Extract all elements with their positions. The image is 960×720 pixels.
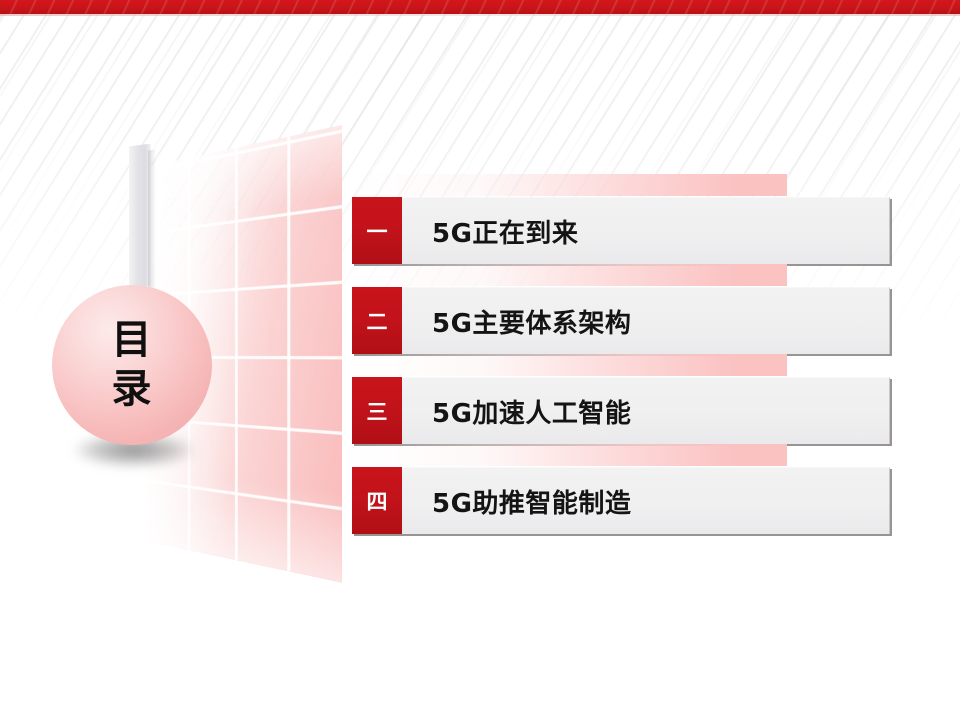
panel-edge-plate-shadow (148, 150, 156, 289)
agenda-item-1-bar[interactable]: 一 5G正在到来 (352, 197, 890, 264)
agenda-item-1-plate[interactable]: 5G正在到来 (402, 197, 890, 264)
agenda-item-2-label: 5G主要体系架构 (432, 303, 631, 340)
agenda-title-char-2: 录 (112, 365, 153, 414)
agenda-sphere-label: 目 录 (52, 285, 212, 445)
agenda-item-1-numeral: 一 (352, 197, 402, 264)
agenda-list: 一 5G正在到来 二 5G主要体系架构 三 5G加速人工智能 (352, 172, 912, 552)
agenda-item-3-numeral: 三 (352, 377, 402, 444)
agenda-title-char-1: 目 (112, 316, 153, 365)
agenda-item-3-bar[interactable]: 三 5G加速人工智能 (352, 377, 890, 444)
slide-canvas: 目 录 一 5G正在到来 二 5G主要体系架构 (0, 0, 960, 720)
agenda-item-2[interactable]: 二 5G主要体系架构 (352, 262, 892, 352)
agenda-item-2-plate[interactable]: 5G主要体系架构 (402, 287, 890, 354)
top-band-stripe-texture (0, 0, 960, 14)
agenda-item-2-numeral: 二 (352, 287, 402, 354)
agenda-item-4-backdrop (352, 444, 787, 466)
top-band-hairline (0, 14, 960, 16)
agenda-item-1[interactable]: 一 5G正在到来 (352, 172, 892, 262)
agenda-item-4-label: 5G助推智能制造 (432, 483, 631, 520)
agenda-item-2-bar[interactable]: 二 5G主要体系架构 (352, 287, 890, 354)
agenda-item-4-bar[interactable]: 四 5G助推智能制造 (352, 467, 890, 534)
agenda-item-1-backdrop (352, 174, 787, 196)
agenda-item-4-plate[interactable]: 5G助推智能制造 (402, 467, 890, 534)
agenda-item-1-label: 5G正在到来 (432, 213, 578, 250)
agenda-item-2-backdrop (352, 264, 787, 286)
agenda-item-3-label: 5G加速人工智能 (432, 393, 631, 430)
agenda-item-3-backdrop (352, 354, 787, 376)
agenda-item-4-numeral: 四 (352, 467, 402, 534)
agenda-item-3[interactable]: 三 5G加速人工智能 (352, 352, 892, 442)
agenda-item-4[interactable]: 四 5G助推智能制造 (352, 442, 892, 532)
agenda-item-3-plate[interactable]: 5G加速人工智能 (402, 377, 890, 444)
